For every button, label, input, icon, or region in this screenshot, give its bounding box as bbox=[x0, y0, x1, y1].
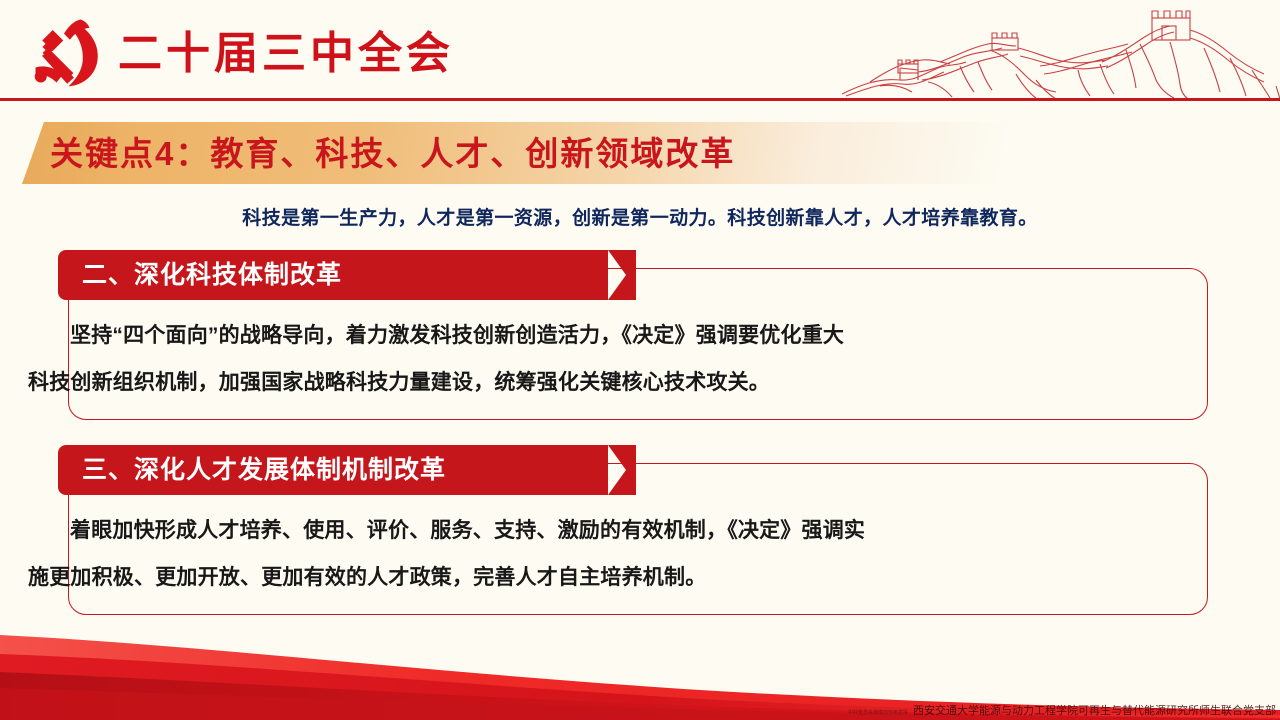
slide-root: 二十届三中全会 bbox=[0, 0, 1280, 720]
section-ribbon-label-1: 二、深化科技体制改革 bbox=[82, 250, 342, 300]
footer-organization: 西安交通大学能源与动力工程学院可再生与替代能源研究所师生联合党支部 bbox=[913, 702, 1276, 718]
hammer-and-sickle-icon bbox=[28, 18, 106, 90]
section-body-2: 着眼加快形成人才培养、使用、评价、服务、支持、激励的有效机制，《决定》强调实 施… bbox=[0, 507, 1140, 601]
section-1-paragraph-line-1: 坚持“四个面向”的战略导向，着力激发科技创新创造活力，《决定》强调要优化重大 bbox=[28, 312, 1112, 359]
section-2-paragraph-line-1: 着眼加快形成人才培养、使用、评价、服务、支持、激励的有效机制，《决定》强调实 bbox=[28, 507, 1112, 554]
section-ribbon-2: 三、深化人才发展体制机制改革 bbox=[58, 445, 608, 495]
section-ribbon-1: 二、深化科技体制改革 bbox=[58, 250, 608, 300]
section-body-1: 坚持“四个面向”的战略导向，着力激发科技创新创造活力，《决定》强调要优化重大 科… bbox=[0, 312, 1140, 406]
footer-small-mark: 中共党员先锋模范作用发挥 bbox=[848, 709, 908, 716]
section-1-paragraph-line-2: 科技创新组织机制，加强国家战略科技力量建设，统筹强化关键核心技术攻关。 bbox=[28, 359, 1112, 406]
subtitle-text: 科技是第一生产力，人才是第一资源，创新是第一动力。科技创新靠人才，人才培养靠教育… bbox=[0, 203, 1280, 230]
section-ribbon-label-2: 三、深化人才发展体制机制改革 bbox=[82, 445, 446, 495]
key-point-banner-label: 关键点4：教育、科技、人才、创新领域改革 bbox=[50, 126, 735, 182]
header-divider bbox=[0, 98, 1280, 101]
page-title: 二十届三中全会 bbox=[118, 28, 454, 80]
key-point-banner: 关键点4：教育、科技、人才、创新领域改革 bbox=[22, 122, 1032, 184]
great-wall-illustration bbox=[840, 0, 1280, 100]
section-2-paragraph-line-2: 施更加积极、更加开放、更加有效的人才政策，完善人才自主培养机制。 bbox=[28, 554, 1112, 601]
slide-header: 二十届三中全会 bbox=[0, 0, 1280, 101]
